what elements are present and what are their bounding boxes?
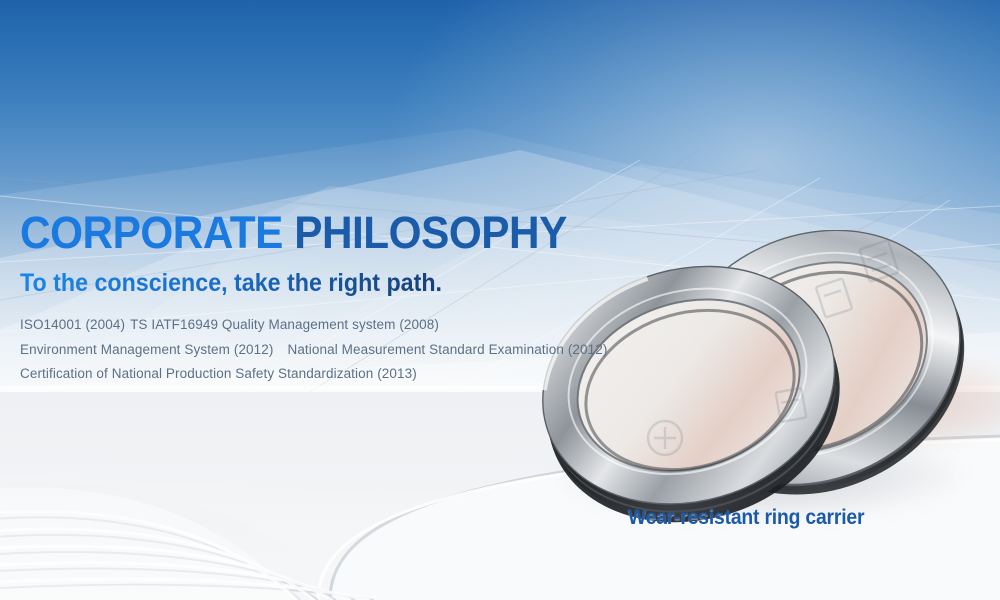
certification-line: ISO14001 (2004)TS IATF16949 Quality Mana… <box>20 318 640 332</box>
page-title: CORPORATE PHILOSOPHY <box>20 210 603 256</box>
copy-block: CORPORATE PHILOSOPHY To the conscience, … <box>20 210 640 381</box>
product-caption: Wear-resistant ring carrier <box>628 506 864 530</box>
certification-item: Certification of National Production Saf… <box>20 366 417 381</box>
certification-item: Environment Management System (2012) <box>20 342 273 357</box>
headline-part-1: CORPORATE <box>20 207 283 258</box>
certification-line: Certification of National Production Saf… <box>20 367 640 381</box>
headline-part-2: PHILOSOPHY <box>294 207 567 258</box>
page-subtitle: To the conscience, take the right path. <box>20 270 597 296</box>
certification-item: ISO14001 (2004) <box>20 317 125 332</box>
certification-line: Environment Management System (2012)Nati… <box>20 343 640 357</box>
certifications-list: ISO14001 (2004)TS IATF16949 Quality Mana… <box>20 318 640 381</box>
corporate-philosophy-banner: CORPORATE PHILOSOPHY To the conscience, … <box>0 0 1000 600</box>
certification-item: TS IATF16949 Quality Management system (… <box>130 317 439 332</box>
certification-item: National Measurement Standard Examinatio… <box>287 342 607 357</box>
